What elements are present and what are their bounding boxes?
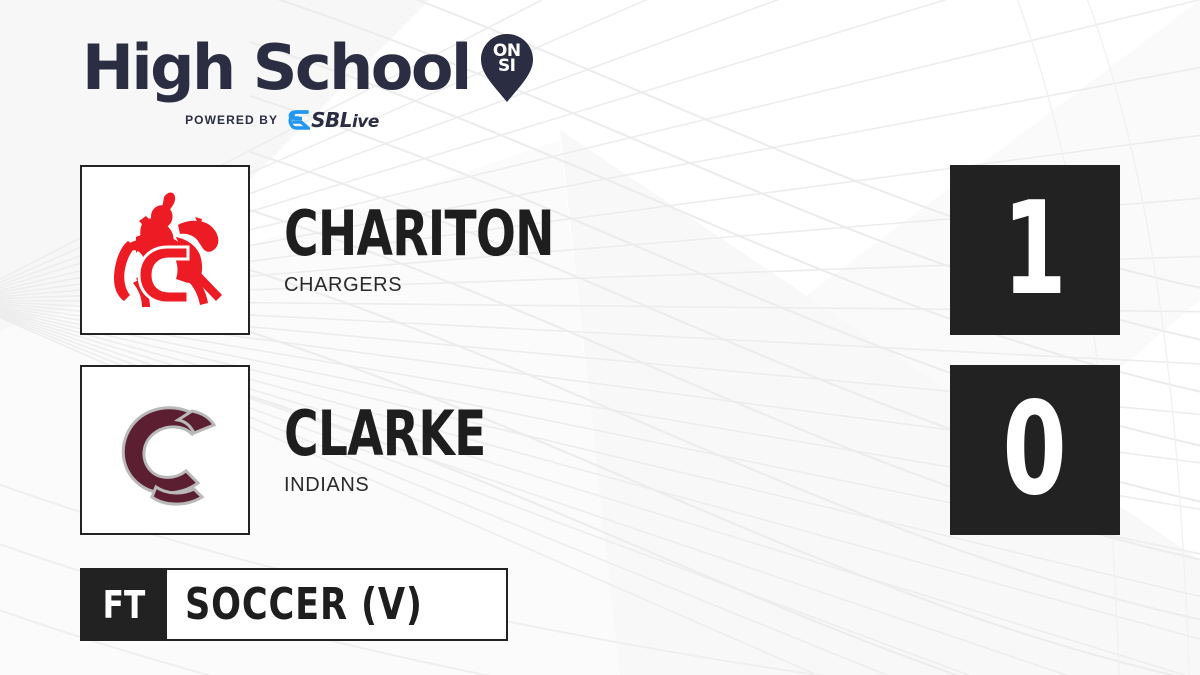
score-value-clarke: 0 <box>1003 386 1067 514</box>
team-logo-box-chariton <box>80 165 250 335</box>
sblive-wordmark: SBLive <box>311 108 379 132</box>
team-mascot-chariton: CHARGERS <box>284 274 639 297</box>
brand-logo-row: High School ON SI <box>82 32 522 104</box>
sblive-word-main: SBL <box>311 108 352 132</box>
team-info-chariton: CHARITON CHARGERS <box>284 165 639 335</box>
team-logo-box-clarke <box>80 365 250 535</box>
powered-by-row: POWERED BY SBLive <box>82 110 482 130</box>
brand-wordmark: High School <box>82 37 470 99</box>
clarke-indians-c-icon <box>90 375 240 525</box>
score-box-chariton: 1 <box>950 165 1120 335</box>
game-period-badge: FT <box>80 568 167 641</box>
sblive-s-icon <box>288 110 310 130</box>
game-sport-label: SOCCER (V) <box>185 579 423 630</box>
team-mascot-clarke: INDIANS <box>284 474 549 497</box>
game-status-bar: FT SOCCER (V) <box>80 568 508 641</box>
team-name-chariton: CHARITON <box>284 203 554 265</box>
powered-by-label: POWERED BY <box>185 113 278 127</box>
sblive-word-suffix: ive <box>352 112 379 132</box>
game-sport-label-box: SOCCER (V) <box>167 568 508 641</box>
team-info-clarke: CLARKE INDIANS <box>284 365 549 535</box>
score-box-clarke: 0 <box>950 365 1120 535</box>
game-period-label: FT <box>102 583 145 627</box>
brand-logo: High School ON SI POWERED BY SBLive <box>82 32 522 130</box>
on-si-pin-icon: ON SI <box>478 32 536 104</box>
on-si-pin-text: ON SI <box>478 44 536 74</box>
team-name-clarke: CLARKE <box>284 403 486 465</box>
scoreboard-graphic: High School ON SI POWERED BY SBLive <box>0 0 1200 675</box>
chariton-chargers-knight-icon <box>90 175 240 325</box>
score-value-chariton: 1 <box>1003 186 1067 314</box>
pin-line-si: SI <box>478 59 536 74</box>
sblive-logo: SBLive <box>288 108 379 132</box>
